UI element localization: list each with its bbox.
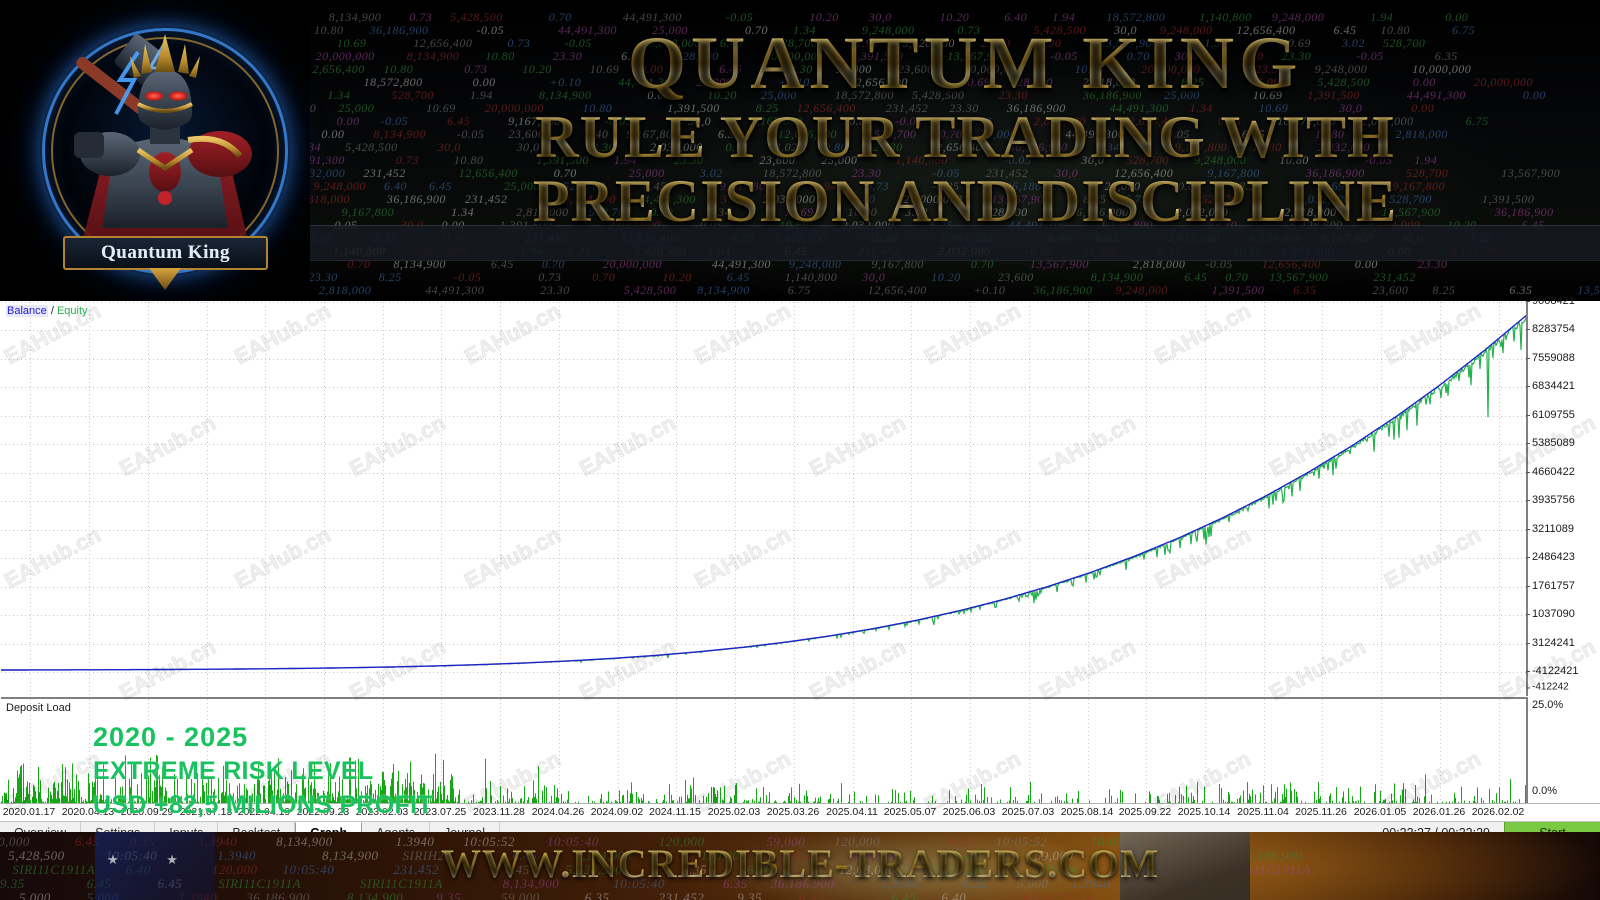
promo-title: QUANTUM KING — [330, 26, 1600, 103]
x-axis-tick: 2026.02.02 — [1472, 806, 1525, 818]
y-axis-labels: 9008421828375475590886834421610975553850… — [1529, 301, 1600, 697]
deposit-load-label: Deposit Load — [6, 702, 71, 714]
y-axis-tick: 1037090 — [1532, 608, 1575, 620]
x-axis-tick: 2025.09.22 — [1119, 806, 1172, 818]
legend-balance: Balance — [6, 305, 48, 317]
y-axis-tick: 2486423 — [1532, 551, 1575, 563]
equity-plot-area[interactable]: Balance / Equity — [1, 302, 1528, 696]
legend-equity: Equity — [57, 305, 88, 317]
y-axis-tick: 5385089 — [1532, 437, 1575, 449]
promo-subtitle-line2: PRECISION AND DISCIPLINE — [330, 171, 1600, 231]
logo-chevron-icon — [149, 268, 181, 290]
footer-website-url: WWW.INCREDIBLE-TRADERS.COM — [0, 840, 1600, 887]
y-axis-tick: 6109755 — [1532, 409, 1575, 421]
y-axis-tick: 8283754 — [1532, 323, 1575, 335]
chart-legend: Balance / Equity — [6, 305, 88, 317]
chart-overlay-text: 2020 - 2025 EXTREME RISK LEVEL USD +82,5… — [93, 719, 433, 823]
promo-subtitle-line1: RULE YOUR TRADING WITH — [330, 107, 1600, 167]
x-axis-tick: 2025.10.14 — [1178, 806, 1231, 818]
x-axis-tick: 2026.01.05 — [1354, 806, 1407, 818]
x-axis-tick: 2024.09.02 — [591, 806, 644, 818]
x-axis-tick: 2025.04.11 — [826, 806, 878, 818]
x-axis-tick: 2025.06.03 — [943, 806, 996, 818]
promo-header: 8,134,9000.735,428,5000.7044,491,300-0.0… — [0, 0, 1600, 300]
y-axis-tick: 3211089 — [1532, 523, 1574, 535]
x-axis-tick: 2020.01.17 — [3, 806, 56, 818]
y-axis-tick: 7559088 — [1532, 352, 1575, 364]
overlay-profit: USD +82,5 MILIONS PROFIT — [93, 789, 433, 823]
y-axis-tick: -4122421 — [1532, 665, 1579, 677]
quantum-king-logo: Quantum King — [18, 8, 310, 293]
deposit-load-y-axis: 25.0% 0.0% — [1529, 697, 1600, 803]
y-axis-tick: 6834421 — [1532, 380, 1575, 392]
promo-footer: 120,0006.459.351.39408,134,9001.394010:0… — [0, 832, 1600, 900]
app-root: 8,134,9000.735,428,5000.7044,491,300-0.0… — [0, 0, 1600, 900]
equity-chart: Balance / Equity 90084218283754755908868… — [0, 301, 1600, 697]
x-axis-tick: 2025.11.04 — [1237, 806, 1289, 818]
legend-separator: / — [51, 305, 54, 317]
x-axis-tick: 2023.11.28 — [473, 806, 525, 818]
y-axis-tick: 4660422 — [1532, 466, 1575, 478]
logo-banner-text: Quantum King — [101, 242, 230, 264]
backtest-graph-panel: Balance / Equity 90084218283754755908868… — [0, 300, 1600, 832]
y-axis-tick: 3124241 — [1532, 637, 1575, 649]
x-axis-tick: 2025.08.14 — [1061, 806, 1114, 818]
overlay-risk-level: EXTREME RISK LEVEL — [93, 755, 433, 789]
equity-curve-svg — [1, 302, 1528, 696]
deposit-load-y-top: 25.0% — [1532, 699, 1563, 711]
y-axis-tick: 3935756 — [1532, 494, 1575, 506]
x-axis-tick: 2026.01.26 — [1413, 806, 1466, 818]
x-axis-tick: 2025.03.26 — [767, 806, 820, 818]
x-axis-tick: 2025.11.26 — [1295, 806, 1347, 818]
x-axis-tick: 2024.11.15 — [649, 806, 701, 818]
x-axis-tick: 2025.05.07 — [884, 806, 937, 818]
x-axis-tick: 2025.02.03 — [708, 806, 761, 818]
logo-banner: Quantum King — [63, 236, 268, 270]
deposit-load-y-bottom: 0.0% — [1532, 785, 1557, 797]
y-axis-tick: 1761757 — [1532, 580, 1575, 592]
knight-figure-icon — [42, 22, 288, 262]
promo-title-block: QUANTUM KING RULE YOUR TRADING WITH PREC… — [330, 26, 1600, 231]
x-axis-tick: 2024.04.26 — [532, 806, 585, 818]
x-axis-tick: 2025.07.03 — [1002, 806, 1055, 818]
y-axis-tick-floor: -412242 — [1532, 682, 1569, 693]
overlay-period: 2020 - 2025 — [93, 719, 433, 755]
y-axis-tick: 9008421 — [1532, 295, 1575, 307]
